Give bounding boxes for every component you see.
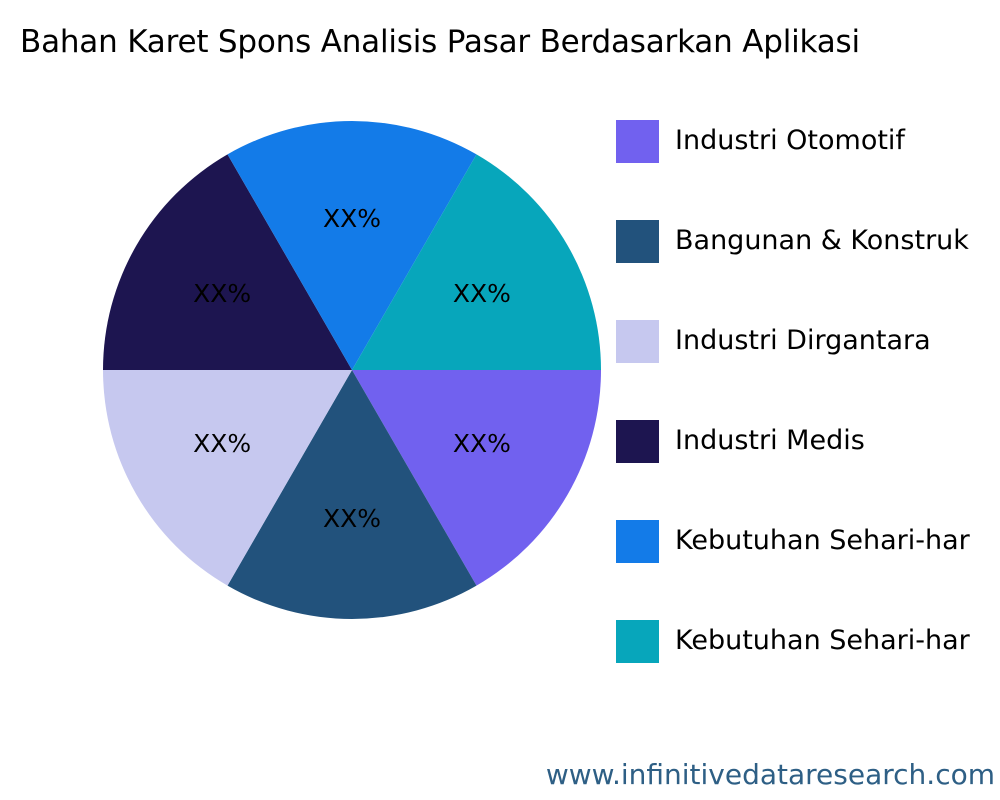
legend-item-label: Industri Dirgantara xyxy=(675,326,931,356)
legend-color-swatch xyxy=(616,520,659,563)
legend-item-label: Kebutuhan Sehari-har xyxy=(675,626,970,656)
pie-slice-label: XX% xyxy=(323,204,381,233)
legend-color-swatch xyxy=(616,320,659,363)
pie-slice-label: XX% xyxy=(323,504,381,533)
legend-item-label: Industri Otomotif xyxy=(675,126,905,156)
legend-color-swatch xyxy=(616,220,659,263)
pie-svg: XX%XX%XX%XX%XX%XX% xyxy=(103,121,601,619)
pie-slice-label: XX% xyxy=(453,279,511,308)
chart-title: Bahan Karet Spons Analisis Pasar Berdasa… xyxy=(20,22,1000,62)
legend-item[interactable]: Kebutuhan Sehari-har xyxy=(616,619,970,663)
pie-slice-label: XX% xyxy=(453,429,511,458)
legend-item-label: Industri Medis xyxy=(675,426,865,456)
legend-item-label: Bangunan & Konstruk xyxy=(675,226,969,256)
pie-slice-label: XX% xyxy=(193,279,251,308)
legend-color-swatch xyxy=(616,620,659,663)
legend-item[interactable]: Industri Medis xyxy=(616,419,865,463)
pie-chart-figure: Bahan Karet Spons Analisis Pasar Berdasa… xyxy=(0,0,1000,800)
legend-color-swatch xyxy=(616,120,659,163)
legend-color-swatch xyxy=(616,420,659,463)
pie-slice-label: XX% xyxy=(193,429,251,458)
legend-item[interactable]: Kebutuhan Sehari-har xyxy=(616,519,970,563)
pie-plot-area: XX%XX%XX%XX%XX%XX% xyxy=(103,121,601,619)
pie-slice-group xyxy=(103,121,601,619)
source-url[interactable]: www.infinitivedataresearch.com xyxy=(546,757,995,793)
legend-item[interactable]: Industri Otomotif xyxy=(616,119,905,163)
legend-item[interactable]: Bangunan & Konstruk xyxy=(616,219,969,263)
legend-item-label: Kebutuhan Sehari-har xyxy=(675,526,970,556)
chart-legend: Industri OtomotifBangunan & KonstrukIndu… xyxy=(616,119,1000,665)
legend-item[interactable]: Industri Dirgantara xyxy=(616,319,931,363)
